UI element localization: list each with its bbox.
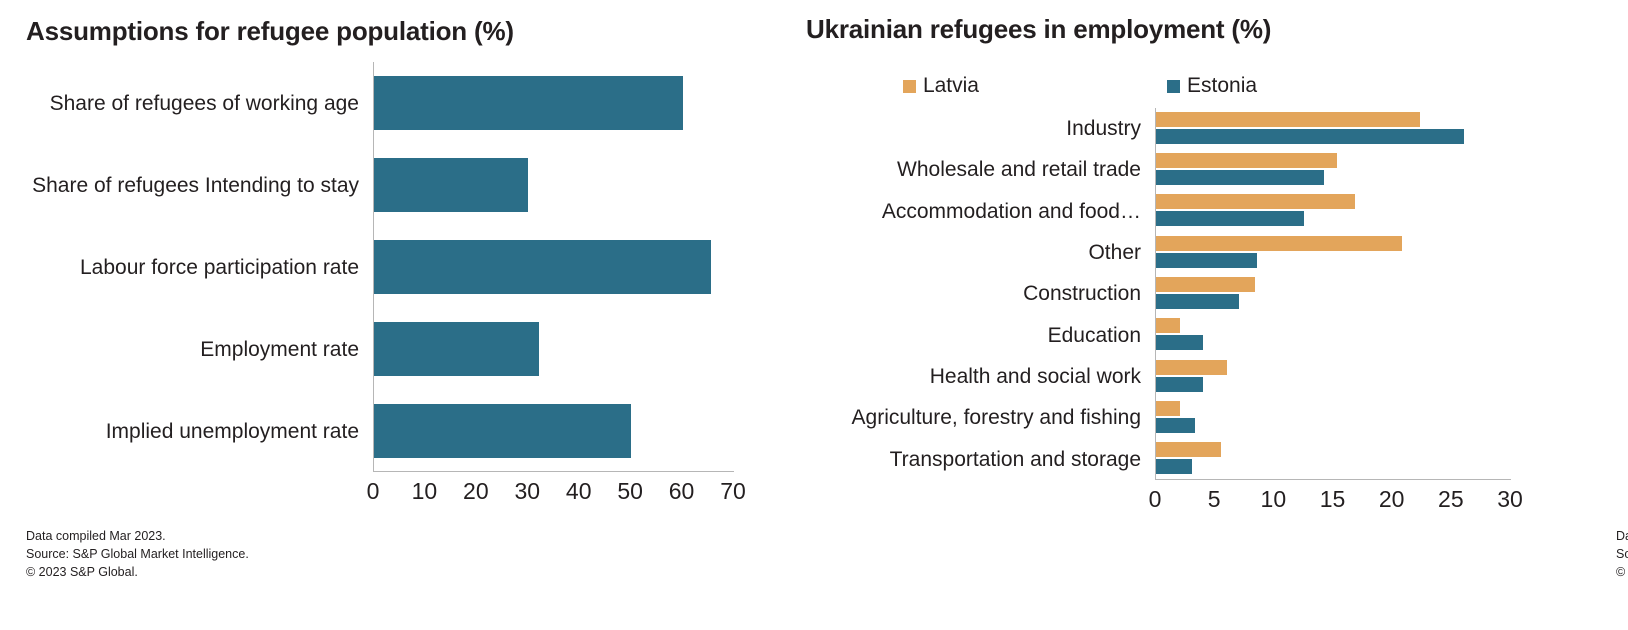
bar-latvia — [1156, 442, 1221, 457]
bar-estonia — [1156, 377, 1203, 392]
left-footnote-line-1: Data compiled Mar 2023. — [26, 527, 249, 545]
category-label: Share of refugees of working age — [0, 62, 373, 144]
x-tick-label: 5 — [1208, 486, 1221, 513]
category-label: Labour force participation rate — [0, 226, 373, 308]
left-x-axis-line — [374, 471, 734, 472]
right-bars-area — [1155, 108, 1510, 480]
bar-series — [374, 404, 631, 458]
category-label-text: Share of refugees Intending to stay — [32, 173, 359, 198]
bar-estonia — [1156, 335, 1203, 350]
category-label-text: Accommodation and food… — [882, 199, 1141, 224]
category-label: Share of refugees Intending to stay — [0, 144, 373, 226]
right-footnote: Data compiled Mar 2023. Source: S&P Glob… — [1616, 527, 1628, 581]
bar-series — [374, 322, 539, 376]
category-label-text: Industry — [1066, 116, 1141, 141]
legend-swatch-icon — [1167, 80, 1180, 93]
legend-swatch-icon — [903, 80, 916, 93]
x-tick-label: 10 — [1261, 486, 1287, 513]
left-bars-area — [373, 62, 733, 472]
x-tick-label: 0 — [367, 478, 380, 505]
bar-estonia — [1156, 211, 1304, 226]
bar-series — [374, 158, 528, 212]
category-label: Implied unemployment rate — [0, 390, 373, 472]
right-category-axis: IndustryWholesale and retail tradeAccomm… — [800, 108, 1155, 480]
left-chart-panel: Assumptions for refugee population (%) S… — [0, 0, 800, 630]
x-tick-label: 0 — [1149, 486, 1162, 513]
category-label: Industry — [800, 108, 1155, 149]
x-tick-label: 40 — [566, 478, 592, 505]
x-tick-label: 10 — [412, 478, 438, 505]
bar-series — [374, 76, 683, 130]
right-x-axis-line — [1156, 479, 1511, 480]
x-tick-label: 20 — [463, 478, 489, 505]
category-label: Other — [800, 232, 1155, 273]
bar-estonia — [1156, 459, 1192, 474]
legend-item-estonia[interactable]: Estonia — [1167, 74, 1257, 98]
left-chart-plot: Share of refugees of working ageShare of… — [0, 62, 760, 472]
category-label-text: Education — [1048, 323, 1141, 348]
category-label: Education — [800, 315, 1155, 356]
bar-latvia — [1156, 236, 1402, 251]
left-footnote: Data compiled Mar 2023. Source: S&P Glob… — [26, 527, 249, 581]
category-label-text: Labour force participation rate — [80, 255, 359, 280]
category-label-text: Transportation and storage — [890, 447, 1141, 472]
category-label-text: Share of refugees of working age — [50, 91, 359, 116]
bar-estonia — [1156, 129, 1464, 144]
bar-latvia — [1156, 360, 1227, 375]
category-label-text: Other — [1088, 240, 1141, 265]
category-label-text: Wholesale and retail trade — [897, 157, 1141, 182]
right-chart-panel: Ukrainian refugees in employment (%) Lat… — [800, 0, 1628, 630]
bar-latvia — [1156, 401, 1180, 416]
bar-estonia — [1156, 253, 1257, 268]
bar-estonia — [1156, 418, 1195, 433]
category-label: Employment rate — [0, 308, 373, 390]
category-label-text: Agriculture, forestry and fishing — [852, 405, 1141, 430]
category-label-text: Construction — [1023, 281, 1141, 306]
x-tick-label: 30 — [1497, 486, 1523, 513]
left-footnote-line-3: © 2023 S&P Global. — [26, 563, 249, 581]
right-footnote-line-1: Data compiled Mar 2023. — [1616, 527, 1628, 545]
bar-estonia — [1156, 170, 1324, 185]
x-tick-label: 20 — [1379, 486, 1405, 513]
left-footnote-line-2: Source: S&P Global Market Intelligence. — [26, 545, 249, 563]
right-chart-title: Ukrainian refugees in employment (%) — [806, 14, 1271, 45]
category-label: Agriculture, forestry and fishing — [800, 397, 1155, 438]
bar-series — [374, 240, 711, 294]
x-tick-label: 50 — [617, 478, 643, 505]
bar-latvia — [1156, 277, 1255, 292]
category-label: Wholesale and retail trade — [800, 149, 1155, 190]
category-label: Accommodation and food… — [800, 191, 1155, 232]
right-chart-plot: IndustryWholesale and retail tradeAccomm… — [800, 108, 1590, 480]
bar-latvia — [1156, 153, 1337, 168]
legend-label: Estonia — [1187, 74, 1257, 98]
category-label: Transportation and storage — [800, 439, 1155, 480]
bar-latvia — [1156, 318, 1180, 333]
x-tick-label: 70 — [720, 478, 746, 505]
category-label-text: Health and social work — [930, 364, 1141, 389]
dual-chart-figure: Assumptions for refugee population (%) S… — [0, 0, 1628, 630]
category-label: Construction — [800, 273, 1155, 314]
x-tick-label: 30 — [514, 478, 540, 505]
x-tick-label: 60 — [669, 478, 695, 505]
bar-estonia — [1156, 294, 1239, 309]
x-tick-label: 25 — [1438, 486, 1464, 513]
category-label-text: Implied unemployment rate — [106, 419, 359, 444]
legend-label: Latvia — [923, 74, 979, 98]
right-chart-legend: LatviaEstonia — [800, 74, 1360, 98]
legend-item-latvia[interactable]: Latvia — [903, 74, 979, 98]
left-category-axis: Share of refugees of working ageShare of… — [0, 62, 373, 472]
left-x-tick-labels: 010203040506070 — [373, 478, 733, 512]
right-x-tick-labels: 051015202530 — [1155, 486, 1510, 520]
category-label-text: Employment rate — [200, 337, 359, 362]
category-label: Health and social work — [800, 356, 1155, 397]
right-footnote-line-2: Source: S&P Global Market Intelligence, … — [1616, 545, 1628, 563]
x-tick-label: 15 — [1320, 486, 1346, 513]
right-footnote-line-3: © 2023 S&P Global. — [1616, 563, 1628, 581]
left-chart-title: Assumptions for refugee population (%) — [26, 16, 514, 47]
bar-latvia — [1156, 112, 1420, 127]
bar-latvia — [1156, 194, 1355, 209]
